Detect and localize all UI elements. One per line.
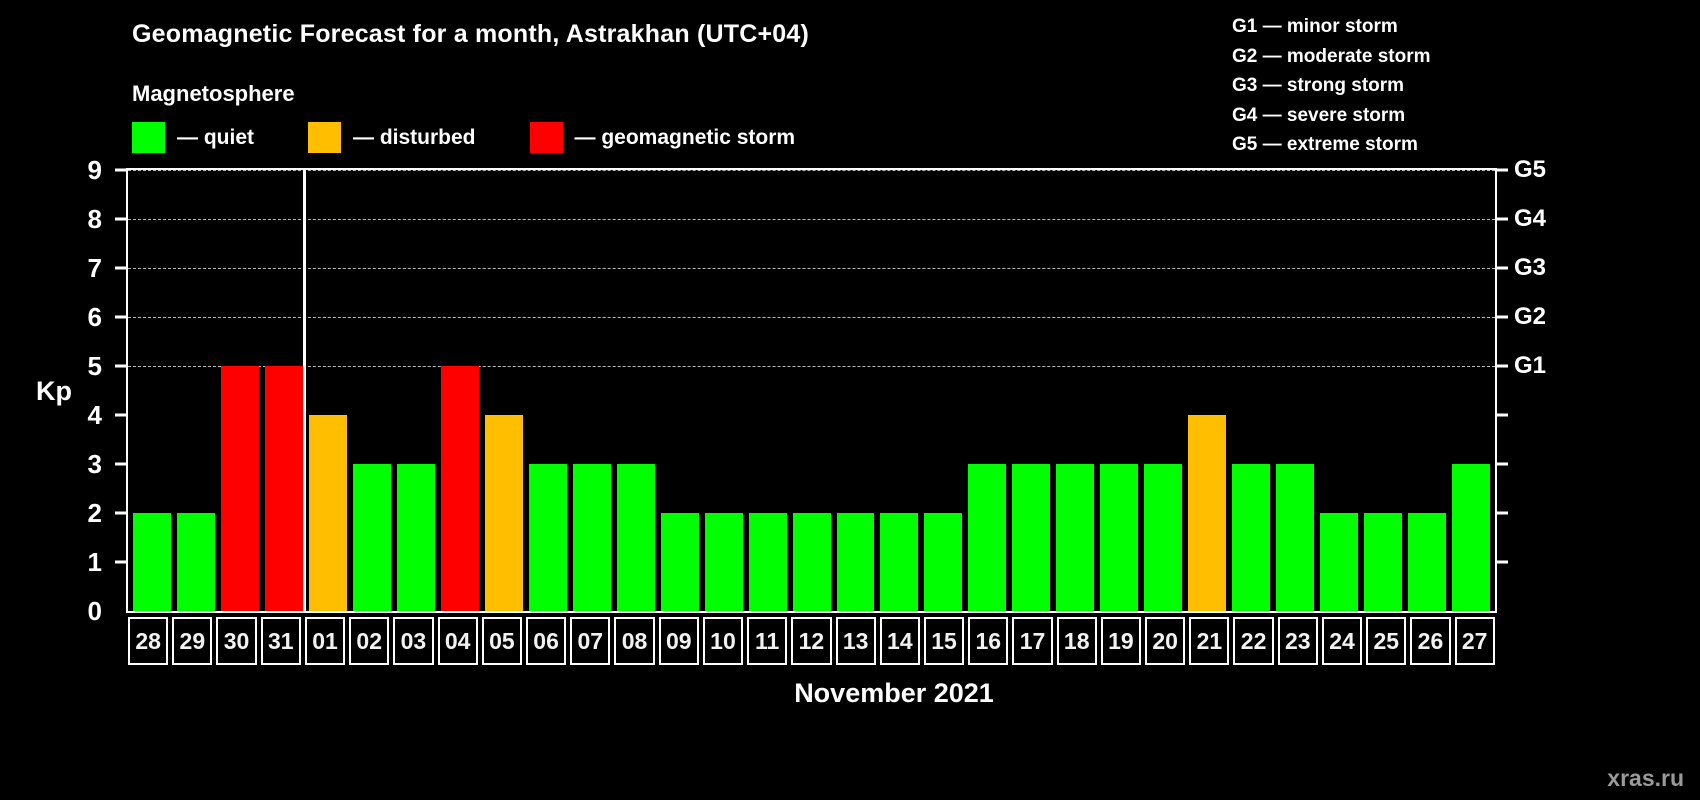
g-tick-label-G5: G5 (1514, 158, 1546, 182)
bar-slot-17 (1009, 170, 1053, 611)
bar-29[interactable] (177, 513, 215, 611)
legend-item-disturbed: — disturbed (308, 122, 476, 153)
date-label-09[interactable]: 09 (659, 617, 699, 665)
orange-square-icon (308, 122, 341, 153)
y-tick-label-7: 7 (88, 255, 102, 281)
date-label-11[interactable]: 11 (747, 617, 787, 665)
y-tick-label-3: 3 (88, 451, 102, 477)
g-tick-G1 (1497, 365, 1508, 368)
bars-container (128, 170, 1495, 611)
bar-slot-11 (746, 170, 790, 611)
y-tick-6 (115, 316, 126, 319)
y-tick-label-8: 8 (88, 206, 102, 232)
date-label-10[interactable]: 10 (703, 617, 743, 665)
page-title: Geomagnetic Forecast for a month, Astrak… (132, 20, 809, 49)
date-label-21[interactable]: 21 (1189, 617, 1229, 665)
bar-slot-19 (1097, 170, 1141, 611)
bar-slot-18 (1053, 170, 1097, 611)
bar-slot-08 (614, 170, 658, 611)
bar-04[interactable] (441, 366, 479, 611)
date-label-16[interactable]: 16 (968, 617, 1008, 665)
month-caption: November 2021 (0, 678, 1700, 709)
bar-slot-10 (702, 170, 746, 611)
bar-slot-14 (877, 170, 921, 611)
bar-slot-09 (658, 170, 702, 611)
x-axis-date-labels: 2829303101020304050607080910111213141516… (126, 617, 1497, 665)
green-square-icon (132, 122, 165, 153)
y-tick-label-4: 4 (88, 402, 102, 428)
bar-12[interactable] (793, 513, 831, 611)
bar-27[interactable] (1452, 464, 1490, 611)
bar-24[interactable] (1320, 513, 1358, 611)
legend-label-storm: — geomagnetic storm (575, 126, 796, 150)
date-label-28[interactable]: 28 (128, 617, 168, 665)
y-tick-3 (115, 463, 126, 466)
y-tick-label-9: 9 (88, 157, 102, 183)
y-tick-5 (115, 365, 126, 368)
bar-21[interactable] (1188, 415, 1226, 611)
date-label-20[interactable]: 20 (1145, 617, 1185, 665)
y-tick-label-1: 1 (88, 549, 102, 575)
bar-15[interactable] (924, 513, 962, 611)
legend-label-disturbed: — disturbed (353, 126, 476, 150)
g-minor-tick-kp-1 (1497, 561, 1508, 564)
bar-28[interactable] (133, 513, 171, 611)
bar-06[interactable] (529, 464, 567, 611)
y-tick-label-5: 5 (88, 353, 102, 379)
bar-01[interactable] (309, 415, 347, 611)
bar-slot-26 (1405, 170, 1449, 611)
date-label-29[interactable]: 29 (172, 617, 212, 665)
g-scale-line-g1: G1 — minor storm (1232, 12, 1431, 42)
watermark: xras.ru (1607, 765, 1684, 792)
bar-slot-03 (394, 170, 438, 611)
bar-30[interactable] (221, 366, 259, 611)
bar-14[interactable] (880, 513, 918, 611)
bar-slot-07 (570, 170, 614, 611)
bar-slot-24 (1317, 170, 1361, 611)
bar-03[interactable] (397, 464, 435, 611)
bar-08[interactable] (617, 464, 655, 611)
magnetosphere-section-label: Magnetosphere (132, 81, 295, 107)
bar-slot-15 (921, 170, 965, 611)
date-label-01[interactable]: 01 (305, 617, 345, 665)
g-scale-line-g2: G2 — moderate storm (1232, 42, 1431, 72)
g-scale-legend: G1 — minor storm G2 — moderate storm G3 … (1232, 12, 1431, 160)
legend-label-quiet: — quiet (177, 126, 254, 150)
bar-16[interactable] (968, 464, 1006, 611)
y-tick-7 (115, 267, 126, 270)
date-label-04[interactable]: 04 (438, 617, 478, 665)
date-label-24[interactable]: 24 (1322, 617, 1362, 665)
bar-23[interactable] (1276, 464, 1314, 611)
bar-slot-25 (1361, 170, 1405, 611)
bar-slot-05 (482, 170, 526, 611)
g-minor-tick-kp-2 (1497, 512, 1508, 515)
date-label-25[interactable]: 25 (1366, 617, 1406, 665)
bar-18[interactable] (1056, 464, 1094, 611)
bar-10[interactable] (705, 513, 743, 611)
date-label-03[interactable]: 03 (393, 617, 433, 665)
date-label-22[interactable]: 22 (1233, 617, 1273, 665)
bar-slot-12 (790, 170, 834, 611)
bar-17[interactable] (1012, 464, 1050, 611)
date-label-12[interactable]: 12 (791, 617, 831, 665)
y-tick-label-6: 6 (88, 304, 102, 330)
g-tick-label-G4: G4 (1514, 207, 1546, 231)
g-tick-label-G2: G2 (1514, 305, 1546, 329)
bar-slot-02 (350, 170, 394, 611)
g-minor-tick-kp-3 (1497, 463, 1508, 466)
legend: — quiet — disturbed — geomagnetic storm (132, 122, 795, 153)
date-label-27[interactable]: 27 (1455, 617, 1495, 665)
bar-26[interactable] (1408, 513, 1446, 611)
g-tick-G2 (1497, 316, 1508, 319)
date-label-02[interactable]: 02 (349, 617, 389, 665)
date-label-06[interactable]: 06 (526, 617, 566, 665)
bar-05[interactable] (485, 415, 523, 611)
y-tick-label-2: 2 (88, 500, 102, 526)
plot-area (126, 168, 1497, 613)
bar-slot-21 (1185, 170, 1229, 611)
bar-slot-04 (438, 170, 482, 611)
date-label-17[interactable]: 17 (1012, 617, 1052, 665)
bar-slot-20 (1141, 170, 1185, 611)
bar-slot-27 (1449, 170, 1493, 611)
g-tick-G4 (1497, 218, 1508, 221)
g-tick-label-G3: G3 (1514, 256, 1546, 280)
y-axis-labels: 9876543210 (62, 168, 102, 613)
date-label-31[interactable]: 31 (261, 617, 301, 665)
bar-13[interactable] (837, 513, 875, 611)
bar-slot-16 (965, 170, 1009, 611)
g-minor-tick-kp-4 (1497, 414, 1508, 417)
g-axis-ticks (1497, 168, 1509, 613)
bar-25[interactable] (1364, 513, 1402, 611)
g-scale-line-g3: G3 — strong storm (1232, 71, 1431, 101)
bar-slot-29 (174, 170, 218, 611)
date-label-15[interactable]: 15 (924, 617, 964, 665)
bar-09[interactable] (661, 513, 699, 611)
date-label-26[interactable]: 26 (1410, 617, 1450, 665)
g-axis-labels: G1G2G3G4G5 (1514, 168, 1594, 613)
date-label-30[interactable]: 30 (216, 617, 256, 665)
date-label-08[interactable]: 08 (614, 617, 654, 665)
y-tick-9 (115, 169, 126, 172)
date-label-13[interactable]: 13 (836, 617, 876, 665)
bar-slot-22 (1229, 170, 1273, 611)
date-label-07[interactable]: 07 (570, 617, 610, 665)
bar-slot-01 (306, 170, 350, 611)
bar-slot-13 (834, 170, 878, 611)
bar-slot-31 (262, 170, 306, 611)
y-tick-1 (115, 561, 126, 564)
bar-11[interactable] (749, 513, 787, 611)
date-label-23[interactable]: 23 (1278, 617, 1318, 665)
bar-slot-28 (130, 170, 174, 611)
date-label-18[interactable]: 18 (1057, 617, 1097, 665)
g-scale-line-g5: G5 — extreme storm (1232, 130, 1431, 160)
bar-07[interactable] (573, 464, 611, 611)
bar-slot-23 (1273, 170, 1317, 611)
bar-31[interactable] (265, 366, 303, 611)
g-scale-line-g4: G4 — severe storm (1232, 101, 1431, 131)
g-tick-G5 (1497, 169, 1508, 172)
red-square-icon (530, 122, 563, 153)
date-label-19[interactable]: 19 (1101, 617, 1141, 665)
bar-02[interactable] (353, 464, 391, 611)
date-label-14[interactable]: 14 (880, 617, 920, 665)
y-tick-4 (115, 414, 126, 417)
y-tick-8 (115, 218, 126, 221)
g-tick-G3 (1497, 267, 1508, 270)
y-tick-label-0: 0 (88, 598, 102, 624)
bar-19[interactable] (1100, 464, 1138, 611)
y-tick-2 (115, 512, 126, 515)
bar-20[interactable] (1144, 464, 1182, 611)
date-label-05[interactable]: 05 (482, 617, 522, 665)
g-tick-label-G1: G1 (1514, 354, 1546, 378)
legend-item-quiet: — quiet (132, 122, 254, 153)
bar-slot-06 (526, 170, 570, 611)
bar-22[interactable] (1232, 464, 1270, 611)
bar-slot-30 (218, 170, 262, 611)
legend-item-storm: — geomagnetic storm (530, 122, 796, 153)
